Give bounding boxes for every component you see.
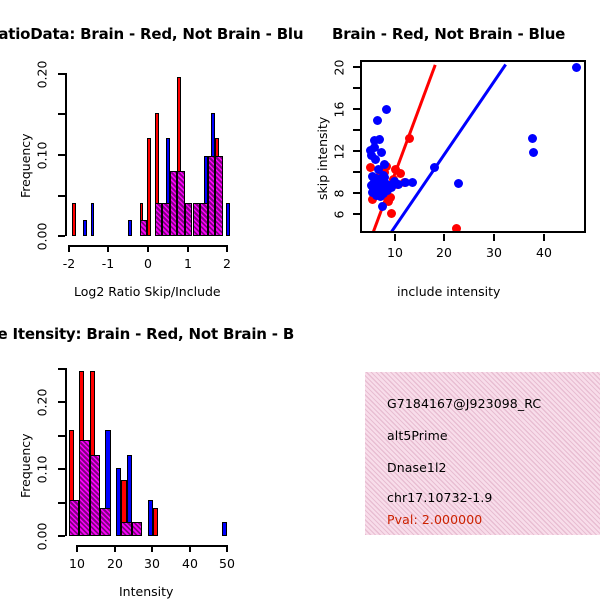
histogram-bar-overlap <box>140 220 148 236</box>
scatter-y-tick-16 <box>353 108 360 110</box>
histogram-bar-red <box>153 508 158 536</box>
scatter-point-not-brain <box>529 148 538 157</box>
scatter-point-not-brain <box>572 63 581 72</box>
histogram-bar-blue <box>226 203 230 236</box>
scatter-point-not-brain <box>382 105 391 114</box>
scatter-x-tick-20 <box>443 234 445 241</box>
scatter-ylabel: skip intensity <box>315 117 330 200</box>
scatter-point-brain <box>452 224 461 233</box>
histogram-bar-overlap <box>208 156 216 236</box>
histogram-bar-blue <box>83 220 87 236</box>
scatter-x-ticklabel-40: 40 <box>530 245 558 260</box>
event-type-text: alt5Prime <box>387 428 448 443</box>
scatter-y-ticklabel-6: 6 <box>332 204 347 226</box>
ratio-histogram-plotarea <box>0 0 300 300</box>
probe-info-box: G7184167@J923098_RC alt5Prime Dnase1l2 c… <box>365 372 600 535</box>
scatter-point-brain <box>405 134 414 143</box>
histogram-bar-overlap <box>69 500 80 536</box>
gene-name-text: Dnase1l2 <box>387 460 447 475</box>
scatter-y-tick-8 <box>353 192 360 194</box>
histogram-bar-overlap <box>121 522 132 536</box>
histogram-bar-overlap <box>170 171 178 236</box>
scatter-y-tick-10 <box>353 171 360 173</box>
panel-probe-info: G7184167@J923098_RC alt5Prime Dnase1l2 c… <box>300 300 600 600</box>
histogram-bar-red <box>147 138 151 236</box>
scatter-y-tick-12 <box>353 150 360 152</box>
scatter-point-not-brain <box>377 148 386 157</box>
histogram-bar-blue <box>91 203 95 236</box>
scatter-point-not-brain <box>454 179 463 188</box>
scatter-y-tick-14 <box>353 129 360 131</box>
scatter-point-not-brain <box>371 155 380 164</box>
scatter-y-tick-18 <box>353 87 360 89</box>
scatter-y-ticklabel-20: 20 <box>332 57 347 79</box>
scatter-title: Brain - Red, Not Brain - Blue <box>332 25 565 43</box>
scatter-point-not-brain <box>528 134 537 143</box>
pval-text: Pval: 2.000000 <box>387 512 482 527</box>
histogram-bar-blue <box>128 220 132 236</box>
histogram-bar-overlap <box>215 156 223 236</box>
scatter-point-not-brain <box>408 178 417 187</box>
histogram-bar-overlap <box>162 203 170 236</box>
scatter-x-ticklabel-10: 10 <box>381 245 409 260</box>
panel-intensity-scatter: Brain - Red, Not Brain - Blue skip inten… <box>300 0 600 300</box>
panel-ratio-histogram: RatioData: Brain - Red, Not Brain - Blu … <box>0 0 300 300</box>
histogram-bar-overlap <box>200 203 208 236</box>
scatter-y-ticklabel-16: 16 <box>332 99 347 121</box>
scatter-point-not-brain <box>380 160 389 169</box>
scatter-xlabel: include intensity <box>397 284 500 299</box>
scatter-x-ticklabel-20: 20 <box>430 245 458 260</box>
histogram-bar-red <box>72 203 76 236</box>
scatter-plot-frame <box>360 60 586 233</box>
scatter-y-ticklabel-12: 12 <box>332 141 347 163</box>
scatter-x-tick-10 <box>394 234 396 241</box>
scatter-point-not-brain <box>373 116 382 125</box>
scatter-point-not-brain <box>375 135 384 144</box>
histogram-bar-overlap <box>100 508 111 536</box>
probe-id-text: G7184167@J923098_RC <box>387 396 541 411</box>
scatter-point-brain <box>387 209 396 218</box>
panel-gene-intensity-histogram: ne Itensity: Brain - Red, Not Brain - B … <box>0 300 300 600</box>
histogram-bar-overlap <box>132 522 143 536</box>
histogram-bar-blue <box>222 522 227 536</box>
locus-text: chr17.10732-1.9 <box>387 490 492 505</box>
histogram-bar-overlap <box>79 440 90 536</box>
scatter-x-ticklabel-30: 30 <box>480 245 508 260</box>
scatter-point-not-brain <box>378 202 387 211</box>
scatter-point-brain <box>396 169 405 178</box>
histogram-bar-overlap <box>155 203 163 236</box>
scatter-x-tick-30 <box>493 234 495 241</box>
histogram-bar-overlap <box>177 171 185 236</box>
gene-intensity-plotarea <box>0 300 300 600</box>
scatter-y-tick-6 <box>353 213 360 215</box>
histogram-bar-overlap <box>193 203 201 236</box>
histogram-bar-overlap <box>185 203 193 236</box>
histogram-bar-overlap <box>90 455 101 536</box>
scatter-y-ticklabel-8: 8 <box>332 183 347 205</box>
scatter-x-tick-40 <box>543 234 545 241</box>
scatter-y-tick-20 <box>353 66 360 68</box>
figure-canvas: RatioData: Brain - Red, Not Brain - Blu … <box>0 0 600 600</box>
scatter-point-not-brain <box>430 163 439 172</box>
